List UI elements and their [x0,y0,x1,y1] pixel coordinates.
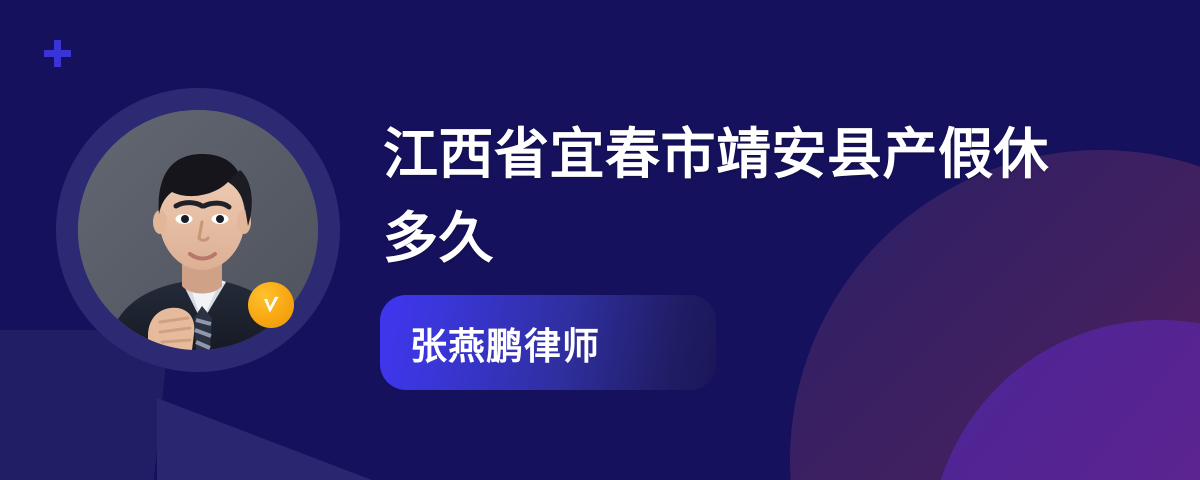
plus-icon [44,40,71,67]
verified-badge-icon [248,282,294,328]
headline-block: 江西省宜春市靖安县产假休多久 [383,112,1083,280]
page-title: 江西省宜春市靖安县产假休多久 [383,112,1083,280]
avatar[interactable] [56,88,340,372]
wedge-shape-triangle [157,398,377,480]
decorative-circle-violet [930,320,1200,480]
lawyer-name-button[interactable]: 张燕鹏律师 [380,295,716,390]
lawyer-promo-banner: 江西省宜春市靖安县产假休多久 张燕鹏律师 [0,0,1200,480]
